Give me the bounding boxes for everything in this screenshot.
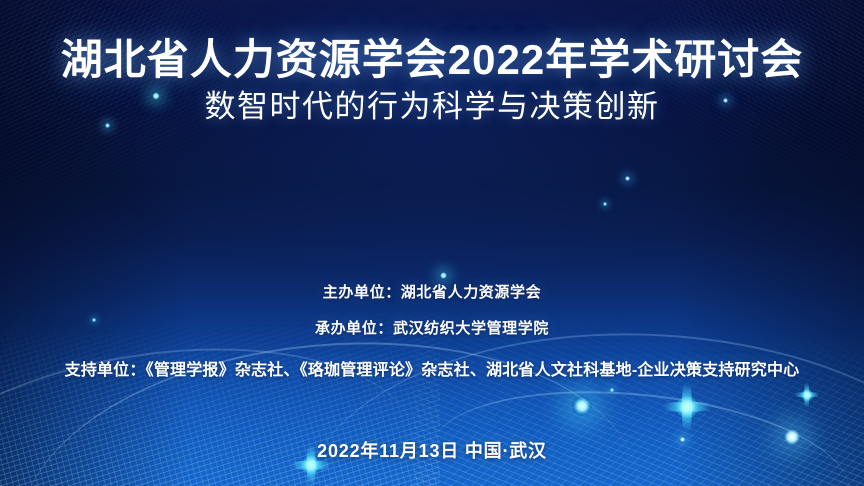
organizing-unit-line: 承办单位：武汉纺织大学管理学院 [0,317,864,338]
supporting-units-line: 支持单位：《管理学报》杂志社、《珞珈管理评论》杂志社、湖北省人文社科基地-企业决… [0,356,864,380]
page-title: 湖北省人力资源学会2022年学术研讨会 [0,36,864,84]
slide-content: 湖北省人力资源学会2022年学术研讨会 数智时代的行为科学与决策创新 主办单位：… [0,0,864,486]
page-subtitle: 数智时代的行为科学与决策创新 [0,88,864,125]
presentation-slide: 湖北省人力资源学会2022年学术研讨会 数智时代的行为科学与决策创新 主办单位：… [0,0,864,486]
host-organization-line: 主办单位：湖北省人力资源学会 [0,281,864,302]
date-location-line: 2022年11月13日 中国·武汉 [0,437,864,463]
